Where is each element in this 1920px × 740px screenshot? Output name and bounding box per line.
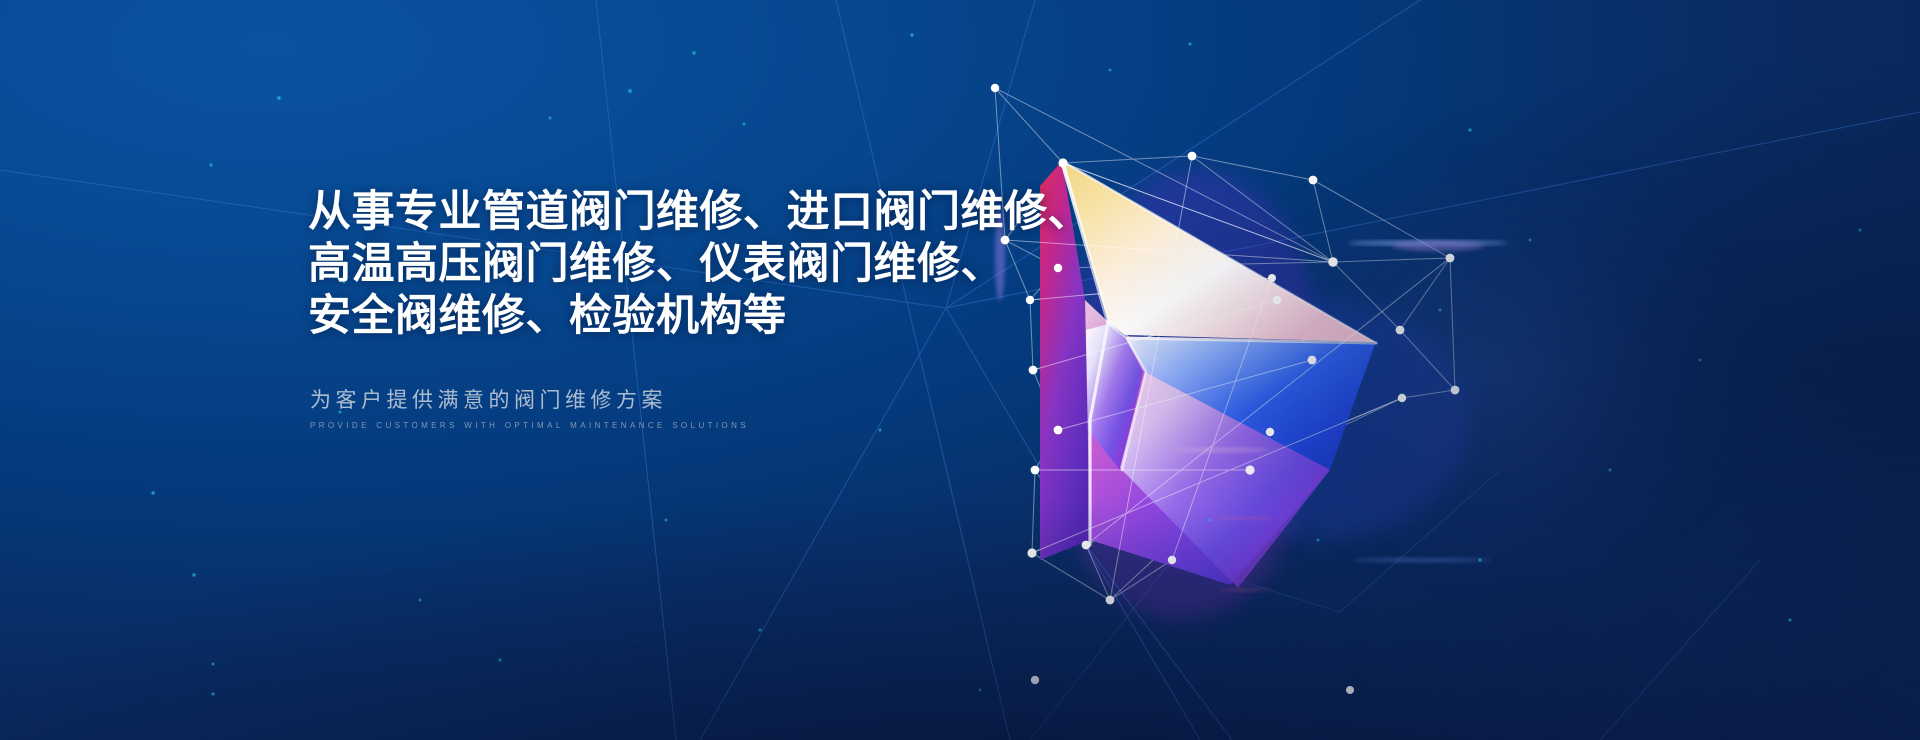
headline-block: 从事专业管道阀门维修、进口阀门维修、 高温高压阀门维修、仪表阀门维修、 安全阀维… — [308, 186, 1028, 342]
hero-banner: 从事专业管道阀门维修、进口阀门维修、 高温高压阀门维修、仪表阀门维修、 安全阀维… — [0, 0, 1920, 740]
subtitle-english: Provide customers with optimal maintenan… — [310, 416, 749, 434]
subtitle-chinese: 为客户提供满意的阀门维修方案 — [310, 386, 749, 416]
headline-line-1: 从事专业管道阀门维修、进口阀门维修、 — [308, 186, 1028, 238]
subtitle-block: 为客户提供满意的阀门维修方案 Provide customers with op… — [310, 386, 749, 434]
headline-line-2: 高温高压阀门维修、仪表阀门维修、 — [308, 238, 1028, 290]
headline-line-3: 安全阀维修、检验机构等 — [308, 290, 1028, 342]
background-vignette — [0, 0, 1920, 740]
